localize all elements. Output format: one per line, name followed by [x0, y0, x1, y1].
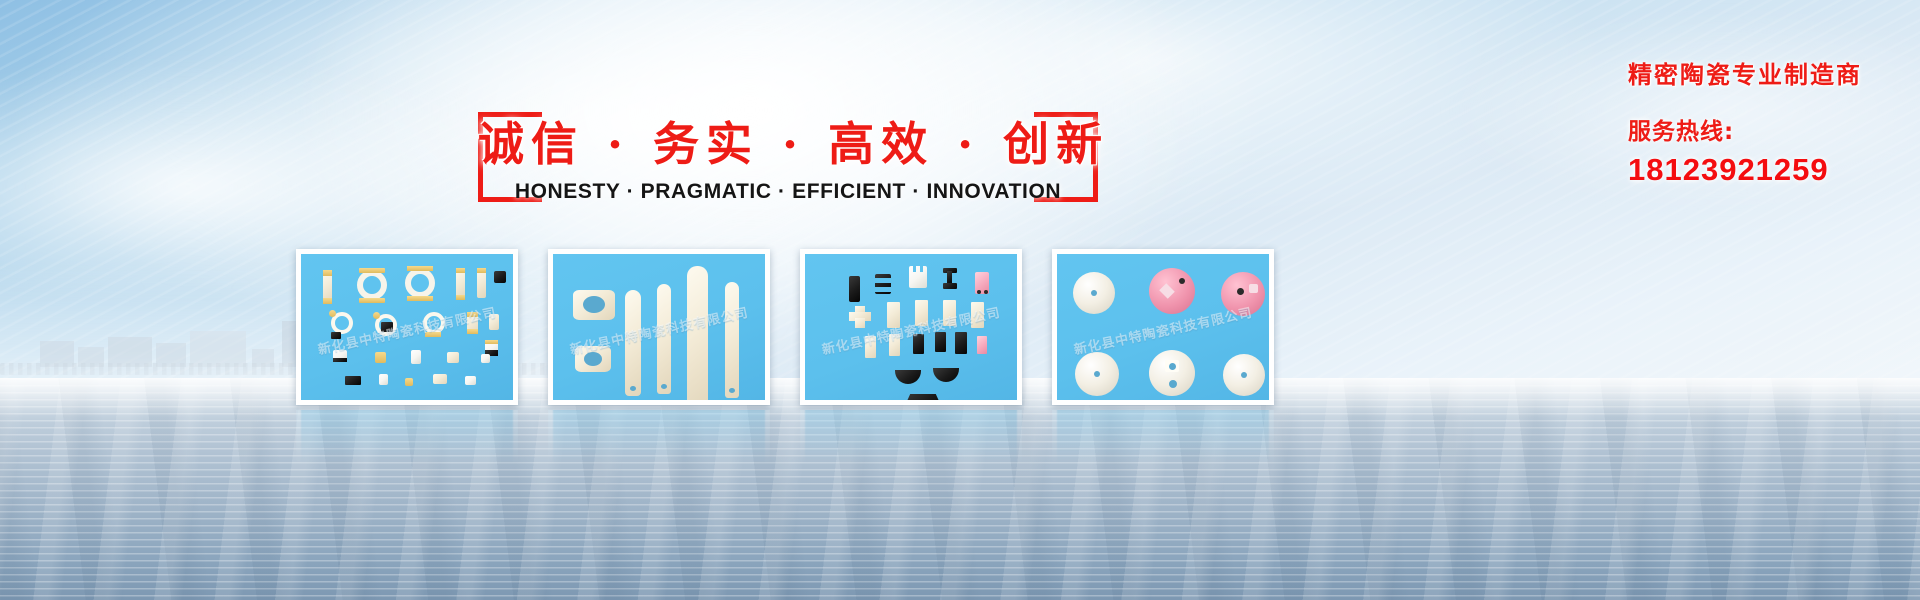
- company-tagline: 精密陶瓷专业制造商: [1628, 55, 1862, 90]
- product-panel-small-components[interactable]: 新化县中特陶瓷科技有限公司: [296, 249, 518, 405]
- slogan-english: HONESTY · PRAGMATIC · EFFICIENT · INNOVA…: [478, 180, 1098, 204]
- panel-1-reflection: [296, 410, 518, 470]
- company-banner: 诚信 · 务实 · 高效 · 创新 HONESTY · PRAGMATIC · …: [0, 0, 1920, 600]
- contact-block: 精密陶瓷专业制造商 服务热线: 18123921259: [1628, 55, 1862, 188]
- product-panel-ceramic-discs[interactable]: 新化县中特陶瓷科技有限公司: [1052, 249, 1274, 405]
- product-panel-3-wrapper: 新化县中特陶瓷科技有限公司: [800, 249, 1022, 405]
- panel-3-reflection: [800, 410, 1022, 470]
- slogan-chinese: 诚信 · 务实 · 高效 · 创新: [478, 108, 1098, 174]
- product-panel-1-wrapper: 新化县中特陶瓷科技有限公司: [296, 249, 518, 405]
- hotline-label: 服务热线:: [1628, 112, 1862, 146]
- slogan-block: 诚信 · 务实 · 高效 · 创新 HONESTY · PRAGMATIC · …: [478, 112, 1098, 207]
- product-panel-ceramic-tubes[interactable]: 新化县中特陶瓷科技有限公司: [548, 249, 770, 405]
- panel-1-photo: 新化县中特陶瓷科技有限公司: [301, 254, 513, 400]
- panel-2-reflection: [548, 410, 770, 470]
- hotline-phone-number[interactable]: 18123921259: [1628, 152, 1862, 188]
- product-panel-row: 新化县中特陶瓷科技有限公司: [296, 249, 1568, 405]
- product-panel-ceramic-blocks[interactable]: 新化县中特陶瓷科技有限公司: [800, 249, 1022, 405]
- panel-3-photo: 新化县中特陶瓷科技有限公司: [805, 254, 1017, 400]
- panel-4-reflection: [1052, 410, 1274, 470]
- panel-4-photo: 新化县中特陶瓷科技有限公司: [1057, 254, 1269, 400]
- product-panel-4-wrapper: 新化县中特陶瓷科技有限公司: [1052, 249, 1274, 405]
- product-panel-2-wrapper: 新化县中特陶瓷科技有限公司: [548, 249, 770, 405]
- panel-2-photo: 新化县中特陶瓷科技有限公司: [553, 254, 765, 400]
